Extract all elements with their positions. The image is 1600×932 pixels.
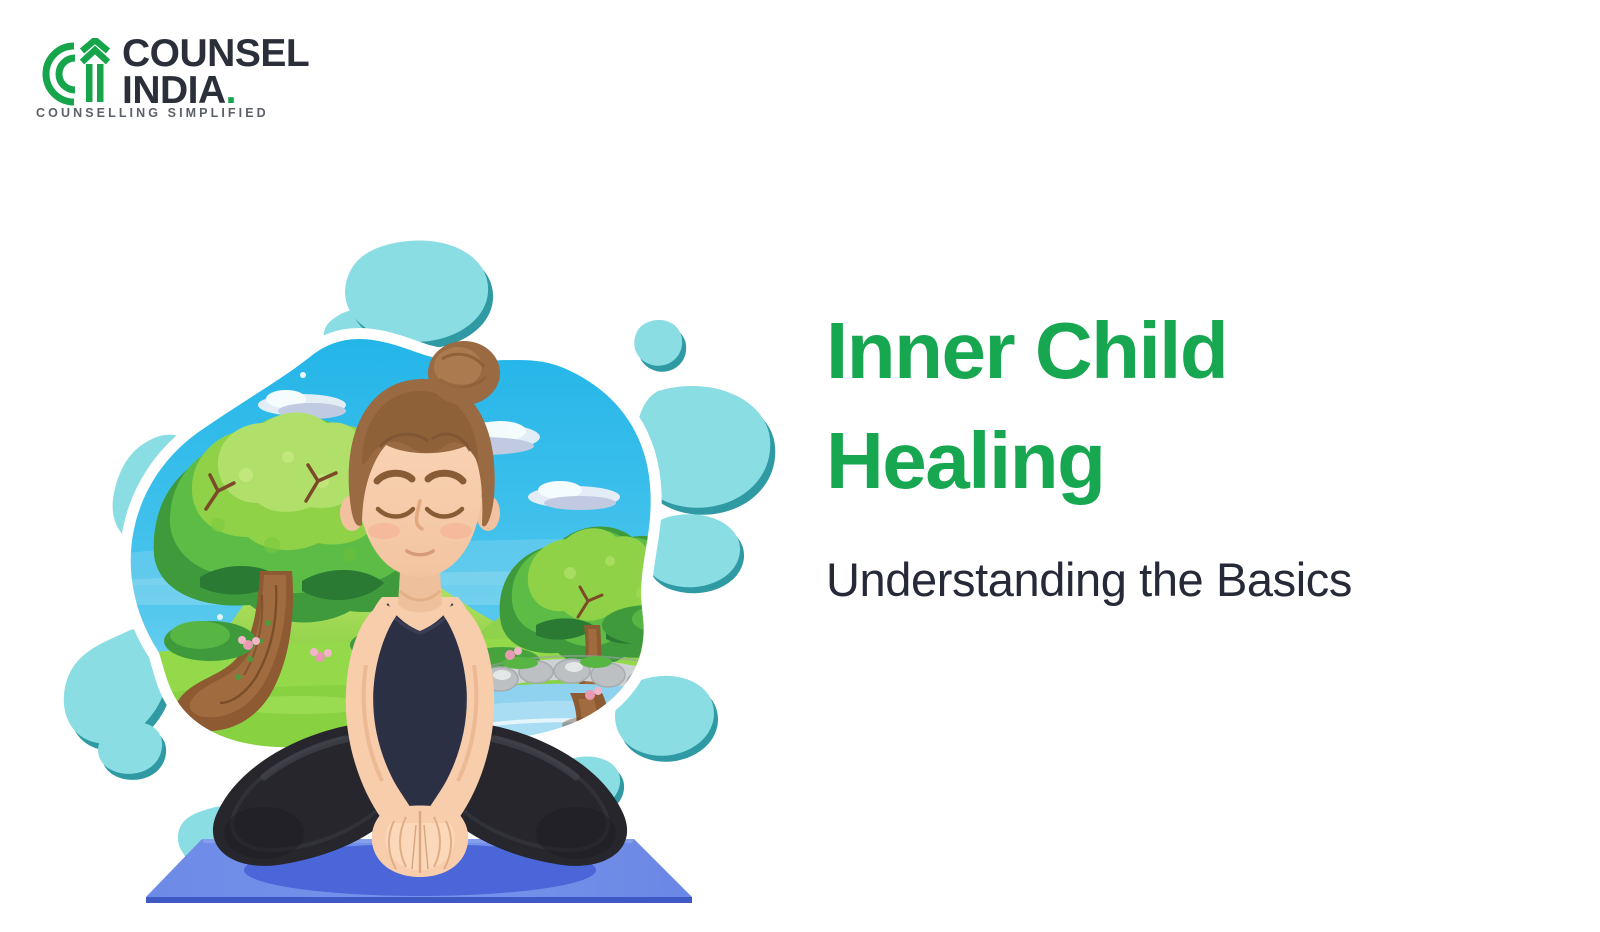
title-line-2: Healing: [826, 406, 1566, 516]
feet-hands-clasped: [372, 806, 469, 878]
page-subtitle: Understanding the Basics: [826, 552, 1352, 607]
logo-tagline: COUNSELLING SIMPLIFIED: [36, 106, 269, 120]
woman-meditating-in-nature-illustration: [50, 225, 790, 925]
page-title: Inner Child Healing: [826, 296, 1566, 517]
title-line-1: Inner Child: [826, 296, 1566, 406]
neck: [398, 571, 442, 613]
counsel-india-logo[interactable]: COUNSEL INDIA. COUNSELLING SIMPLIFIED: [34, 36, 334, 136]
logo-line-counsel: COUNSEL: [122, 36, 309, 73]
page-canvas: COUNSEL INDIA. COUNSELLING SIMPLIFIED In…: [0, 0, 1600, 932]
logo-line-india: INDIA.: [122, 73, 309, 110]
logo-wordmark: COUNSEL INDIA.: [122, 36, 309, 109]
counsel-india-mark-icon: [34, 38, 120, 110]
